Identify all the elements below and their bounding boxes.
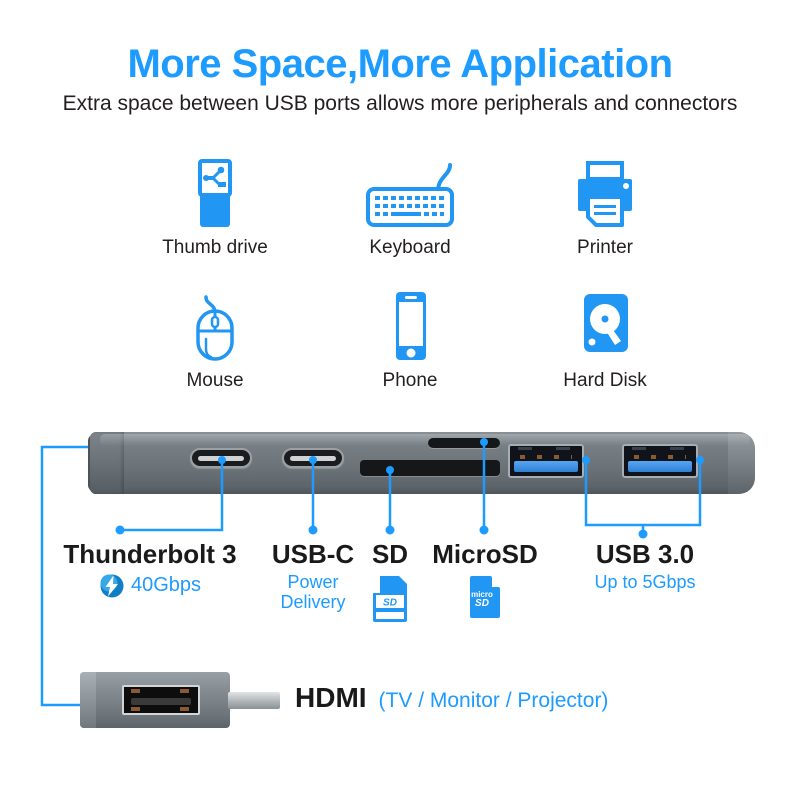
- phone-icon: [315, 288, 505, 366]
- port-label-thunderbolt3: Thunderbolt 3 40Gbps: [20, 540, 280, 599]
- device-item-mouse: Mouse: [120, 288, 310, 392]
- hdmi-pin: [131, 689, 140, 693]
- slot-sd[interactable]: [360, 460, 500, 476]
- port-tab: [670, 447, 684, 450]
- device-label: Printer: [510, 237, 700, 259]
- device-item-phone: Phone: [315, 288, 505, 392]
- hdmi-cable-stub: [228, 692, 280, 709]
- hdmi-bevel: [80, 672, 96, 728]
- microsd-text-bottom: SD: [475, 598, 489, 609]
- hdmi-adapter: HDMI (TV / Monitor / Projector): [80, 672, 620, 734]
- microsd-card-icon: micro SD: [468, 575, 502, 619]
- page-title: More Space,More Application: [0, 42, 800, 87]
- thunderbolt-speed-row: 40Gbps: [20, 573, 280, 599]
- compatible-devices-grid: Thumb drive: [120, 155, 700, 400]
- device-label: Thumb drive: [120, 237, 310, 259]
- hdmi-pin: [131, 707, 140, 711]
- device-item-hard-disk: Hard Disk: [510, 288, 700, 392]
- page-subtitle: Extra space between USB ports allows mor…: [0, 92, 800, 116]
- port-usb30-1[interactable]: [508, 444, 584, 478]
- usb30-speed: Up to 5Gbps: [560, 572, 730, 593]
- keyboard-icon: [315, 155, 505, 233]
- port-name: USB 3.0: [560, 540, 730, 569]
- port-usb-c[interactable]: [282, 448, 344, 468]
- port-insert: [290, 456, 336, 461]
- hdmi-label-group: HDMI (TV / Monitor / Projector): [295, 682, 608, 714]
- sd-card-text: SD: [383, 597, 397, 608]
- thumb-drive-icon: [120, 155, 310, 233]
- hdmi-port-insert: [131, 698, 191, 705]
- usb-hub-device: [60, 424, 760, 514]
- hdmi-sub: (TV / Monitor / Projector): [379, 689, 609, 713]
- device-item-thumb-drive: Thumb drive: [120, 155, 310, 259]
- port-label-microsd: MicroSD micro SD: [420, 540, 550, 619]
- port-insert: [514, 461, 578, 472]
- port-pins: [520, 455, 572, 459]
- port-insert: [628, 461, 692, 472]
- port-name: Thunderbolt 3: [20, 540, 280, 569]
- thunderbolt-speed: 40Gbps: [131, 574, 201, 597]
- port-usb30-2[interactable]: [622, 444, 698, 478]
- port-name: MicroSD: [420, 540, 550, 569]
- device-label: Mouse: [120, 370, 310, 392]
- device-item-keyboard: Keyboard: [315, 155, 505, 259]
- port-thunderbolt3[interactable]: [190, 448, 252, 468]
- thunderbolt-bolt-icon: [99, 573, 125, 599]
- hard-disk-icon: [510, 288, 700, 366]
- device-label: Phone: [315, 370, 505, 392]
- port-tab: [518, 447, 532, 450]
- device-label: Keyboard: [315, 237, 505, 259]
- port-pins: [634, 455, 686, 459]
- hdmi-name: HDMI: [295, 682, 367, 714]
- sd-card-icon: SD: [371, 575, 409, 623]
- device-item-printer: Printer: [510, 155, 700, 259]
- hdmi-port[interactable]: [122, 685, 200, 715]
- printer-icon: [510, 155, 700, 233]
- port-insert: [198, 456, 244, 461]
- port-tab: [632, 447, 646, 450]
- port-tab: [556, 447, 570, 450]
- port-label-usb30: USB 3.0 Up to 5Gbps: [560, 540, 730, 592]
- slot-microsd[interactable]: [428, 438, 500, 448]
- mouse-icon: [120, 288, 310, 366]
- hdmi-pin: [180, 707, 189, 711]
- device-label: Hard Disk: [510, 370, 700, 392]
- hdmi-body: [80, 672, 230, 728]
- hdmi-pin: [180, 689, 189, 693]
- infographic-canvas: More Space,More Application Extra space …: [0, 0, 800, 800]
